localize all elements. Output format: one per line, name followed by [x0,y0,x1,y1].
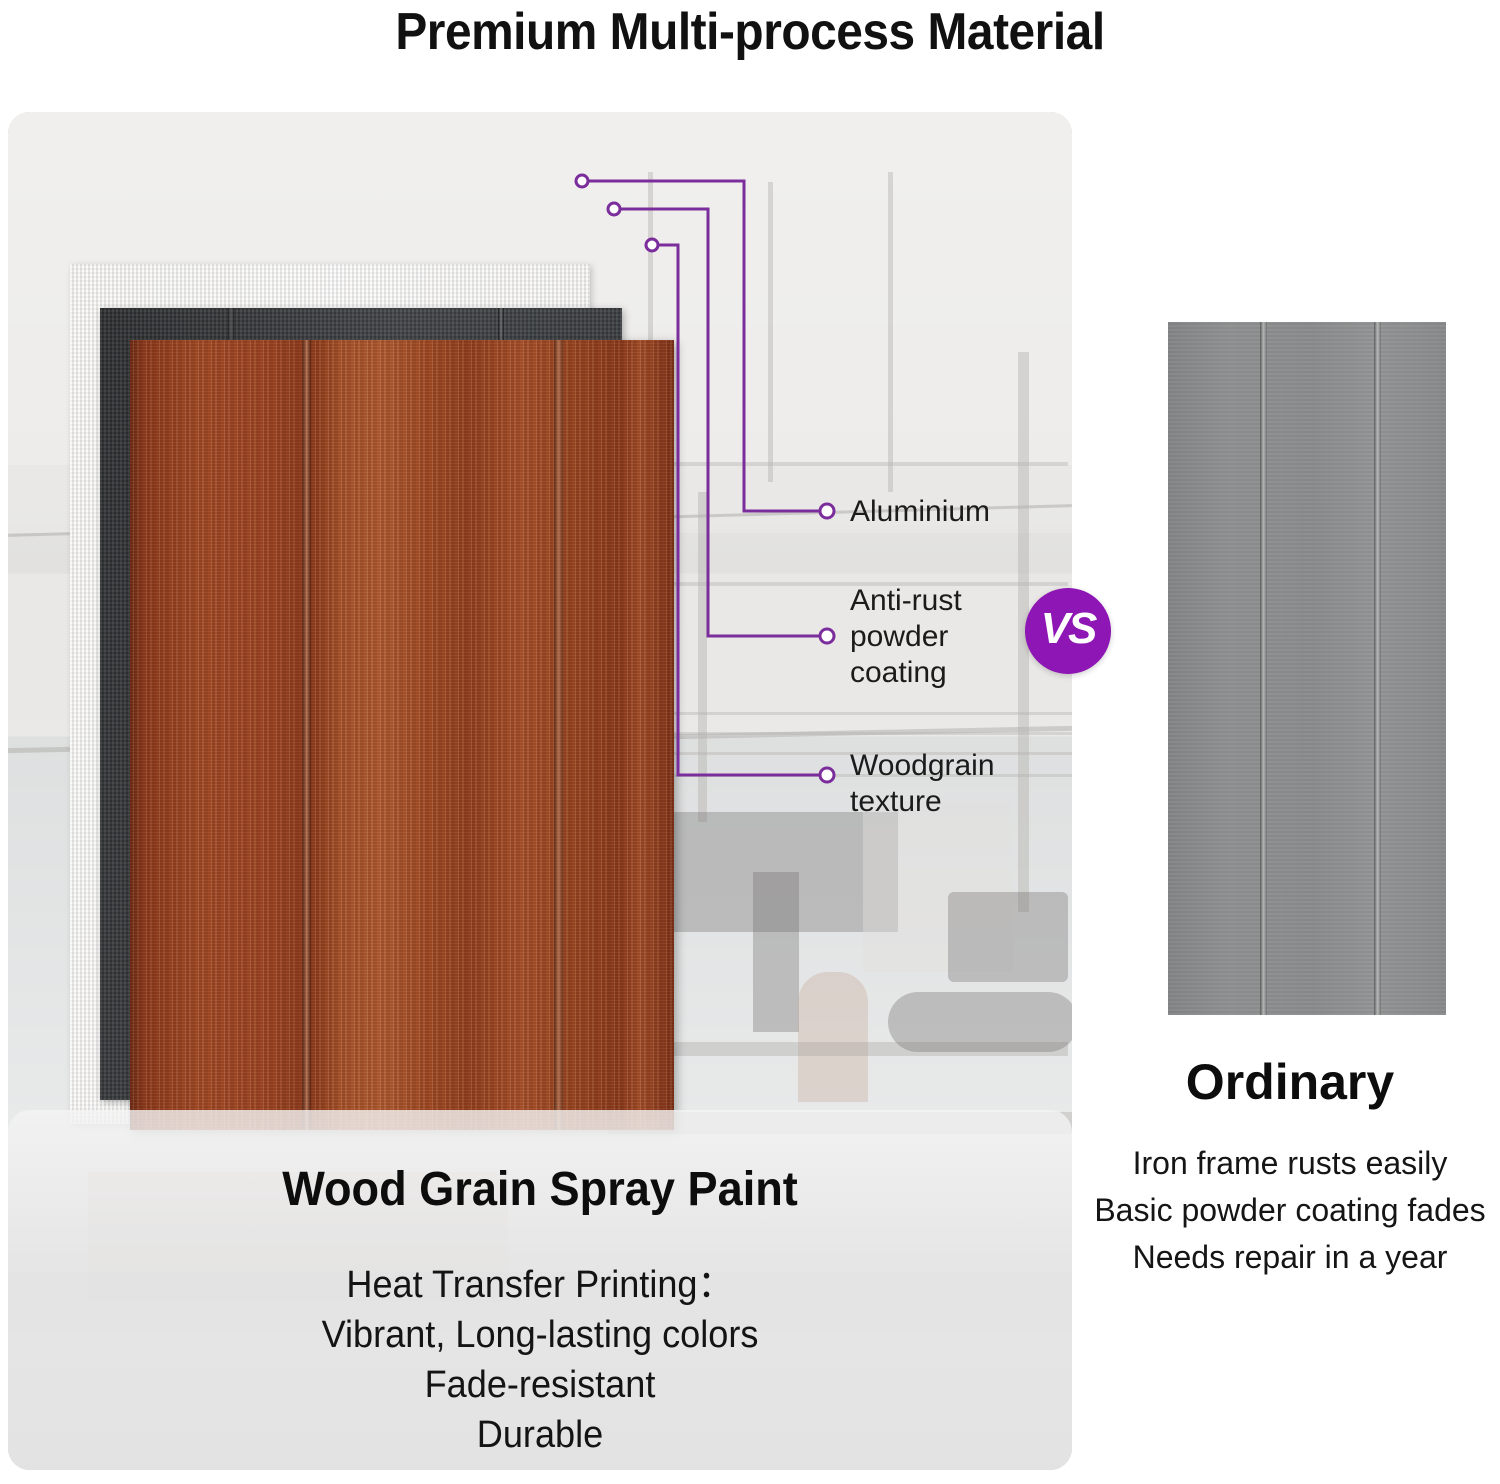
page-title: Premium Multi-process Material [60,2,1440,62]
machine-silhouette [888,992,1072,1052]
panel-groove [1260,322,1267,1015]
premium-caption-card: Wood Grain Spray Paint Heat Transfer Pri… [8,1110,1072,1470]
callout-woodgrain: Woodgrain texture [850,748,995,820]
panel-groove [1374,322,1381,1015]
premium-caption-title: Wood Grain Spray Paint [40,1162,1040,1217]
ceiling-beam [608,582,1068,586]
ordinary-line: Iron frame rusts easily [1080,1140,1500,1187]
callout-powder-coating: Anti-rust powder coating [850,583,962,691]
callout-powder-line3: coating [850,655,962,691]
versus-badge: VS [1025,588,1111,674]
worker-silhouette [798,972,868,1102]
rack-shelf [608,774,1072,777]
callout-woodgrain-line1: Woodgrain [850,748,995,784]
ordinary-line: Needs repair in a year [1080,1234,1500,1281]
rack-shelf [608,712,1072,715]
caption-line: Vibrant, Long-lasting colors [35,1310,1046,1360]
woodgrain-layer [130,340,674,1130]
rack-shelf [608,732,1072,735]
callout-aluminium: Aluminium [850,494,990,530]
callout-powder-line1: Anti-rust [850,583,962,619]
ceiling-mullion [888,172,893,492]
callout-powder-line2: powder [850,619,962,655]
machine-silhouette [753,872,799,1032]
versus-label: VS [1041,604,1096,654]
callout-woodgrain-line2: texture [850,784,995,820]
callout-aluminium-line1: Aluminium [850,494,990,530]
ordinary-panel-image [1168,322,1446,1015]
rack-shelf [608,752,1072,755]
caption-line: Fade-resistant [35,1360,1046,1410]
panel-groove [554,340,563,1130]
ordinary-title: Ordinary [1080,1053,1500,1111]
premium-caption-lines: Heat Transfer Printing： Vibrant, Long-la… [8,1260,1072,1460]
wall-column [698,492,707,822]
ordinary-lines: Iron frame rusts easily Basic powder coa… [1080,1140,1500,1281]
ordinary-line: Basic powder coating fades [1080,1187,1500,1234]
machine-silhouette [948,892,1068,982]
ceiling-mullion [768,182,773,482]
panel-groove [302,340,311,1130]
ceiling-beam [608,462,1068,466]
caption-line: Durable [35,1410,1046,1460]
caption-line: Heat Transfer Printing： [35,1260,1046,1310]
